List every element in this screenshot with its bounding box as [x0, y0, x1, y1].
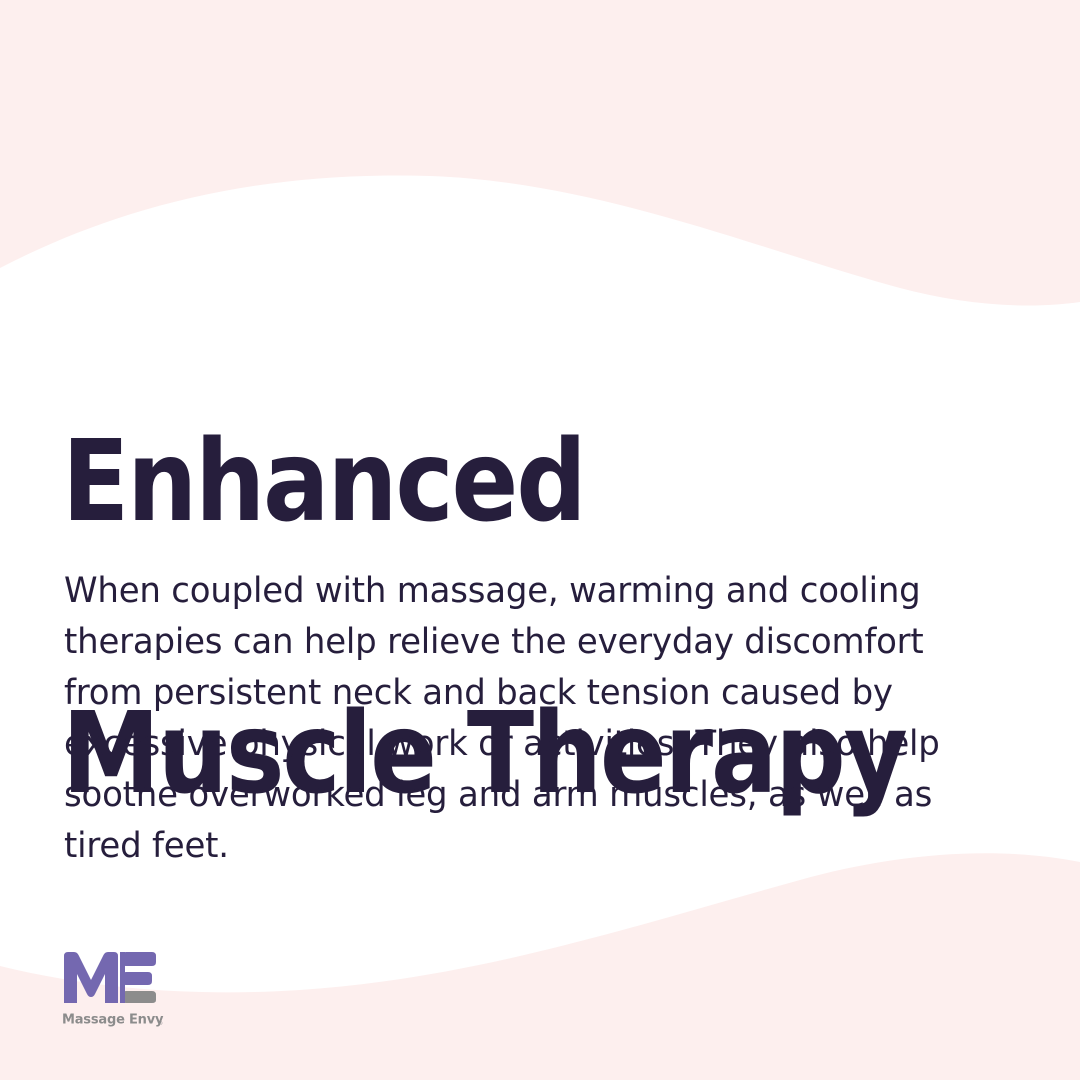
monogram-letter-m [64, 952, 118, 1003]
card-content: Enhanced Muscle Therapy When coupled wit… [0, 0, 1080, 1080]
me-monogram-icon [62, 950, 158, 1005]
brand-logo: Massage Envy ® [62, 950, 172, 1027]
trademark-symbol: ® [158, 1020, 163, 1027]
monogram-e-bottom-bar [123, 991, 156, 1003]
body-paragraph: When coupled with massage, warming and c… [64, 566, 1010, 872]
promo-card: Enhanced Muscle Therapy When coupled wit… [0, 0, 1080, 1080]
brand-wordmark-text: Massage Envy [62, 1013, 164, 1028]
monogram-e-middle-bar [123, 972, 152, 985]
monogram-e-top-bar [123, 952, 156, 966]
monogram-e-stem [120, 952, 125, 1003]
page-title-line-1: Enhanced [62, 414, 907, 550]
brand-wordmark: Massage Envy ® [62, 1010, 166, 1027]
